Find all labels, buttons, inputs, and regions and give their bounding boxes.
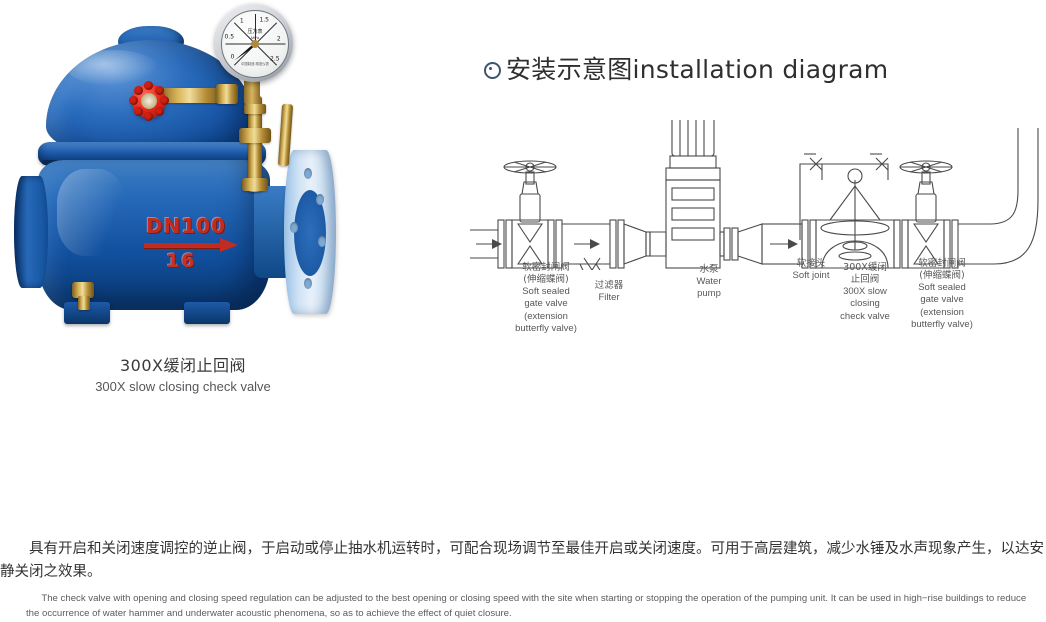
brass-tee-fitting <box>242 178 268 191</box>
brass-nut <box>244 104 266 114</box>
gauge-tick-label: 2.5 <box>270 55 280 62</box>
label-cn-line: 过滤器 <box>580 280 638 292</box>
brass-fitting <box>216 84 238 104</box>
valve-inlet-flange <box>14 176 48 288</box>
label-en-line: Filter <box>580 292 638 304</box>
gauge-center-pin <box>251 40 259 48</box>
label-en-line: 300X slow <box>826 286 904 298</box>
diagram-label-filter: 过滤器 Filter <box>580 280 638 304</box>
flange-bolt-hole <box>316 194 324 205</box>
valve-illustration: DN100 16 <box>8 0 358 350</box>
gauge-face: 0 0.5 1 1.5 2 2.5 压力表 MPa 中国制造 精密仪表 <box>221 10 289 78</box>
valve-outlet-flange <box>284 150 336 314</box>
label-en-line: check valve <box>826 311 904 323</box>
pressure-gauge: 0 0.5 1 1.5 2 2.5 压力表 MPa 中国制造 精密仪表 <box>215 4 293 82</box>
label-en-line: gate valve <box>896 294 988 306</box>
gauge-tick-label: 0 <box>231 54 235 61</box>
gauge-tick-label: 1.5 <box>259 17 269 24</box>
label-cn-line: 水泵 <box>678 264 740 276</box>
diagram-label-water-pump: 水泵 Water pump <box>678 264 740 300</box>
description-chinese: 具有开启和关闭速度调控的逆止阀，于启动或停止抽水机运转时，可配合现场调节至最佳开… <box>0 538 1046 585</box>
label-en-line: pump <box>678 288 740 300</box>
label-cn-line: 软密封闸阀 <box>500 262 592 274</box>
cast-marking-size: DN100 <box>146 214 226 238</box>
label-cn-line: 300X缓闭 <box>826 262 904 274</box>
label-en-line: closing <box>826 298 904 310</box>
valve-foot <box>184 302 230 324</box>
label-en-line: gate valve <box>500 298 592 310</box>
label-en-line: Water <box>678 276 740 288</box>
label-cn-line: 软密封闸阀 <box>896 258 988 270</box>
product-caption-en: 300X slow closing check valve <box>0 379 366 394</box>
gauge-tick-label: 0.5 <box>224 34 234 41</box>
flow-direction-arrow-icon <box>144 240 244 250</box>
diagram-label-gate-valve-left: 软密封闸阀 (伸缩蝶阀) Soft sealed gate valve (ext… <box>500 262 592 335</box>
label-en-line: (extension <box>500 311 592 323</box>
label-en-line: butterfly valve) <box>500 323 592 335</box>
label-cn-line: (伸缩蝶阀) <box>500 274 592 286</box>
flange-bolt-hole <box>304 278 312 289</box>
cast-marking: DN100 16 <box>138 214 250 274</box>
diagram-label-gate-valve-right: 软密封闸阀 (伸缩蝶阀) Soft sealed gate valve (ext… <box>896 258 988 331</box>
label-en-line: butterfly valve) <box>896 319 988 331</box>
diagram-label-check-valve: 300X缓闭 止回阀 300X slow closing check valve <box>826 262 904 323</box>
brass-tube-fitting <box>78 296 90 310</box>
label-cn-line: 止回阀 <box>826 274 904 286</box>
product-photo: DN100 16 <box>8 0 358 350</box>
product-page: DN100 16 <box>0 0 1046 622</box>
double-ring-bullet-icon <box>484 62 501 79</box>
product-caption: 300X缓闭止回阀 300X slow closing check valve <box>0 352 366 394</box>
flange-bolt-hole <box>304 168 312 179</box>
gauge-tick-label: 1 <box>240 17 244 24</box>
gauge-tick-label: 2 <box>277 35 281 42</box>
gauge-sub-label: 中国制造 精密仪表 <box>241 61 269 66</box>
label-cn-line: (伸缩蝶阀) <box>896 270 988 282</box>
gauge-unit-label: MPa <box>251 35 259 40</box>
needle-valve-handwheel <box>132 84 166 118</box>
flange-bolt-hole <box>290 222 298 233</box>
label-en-line: Soft sealed <box>500 286 592 298</box>
description-english: The check valve with opening and closing… <box>26 592 1042 621</box>
label-en-line: (extension <box>896 307 988 319</box>
section-header: 安装示意图installation diagram <box>484 50 888 86</box>
diagram-drawing <box>470 120 1046 270</box>
product-caption-cn: 300X缓闭止回阀 <box>0 352 366 376</box>
label-en-line: Soft sealed <box>896 282 988 294</box>
brass-tee-fitting <box>239 128 271 143</box>
cast-marking-pressure: 16 <box>166 250 196 272</box>
section-title-text: 安装示意图installation diagram <box>506 50 888 86</box>
flange-bolt-hole <box>318 236 326 247</box>
